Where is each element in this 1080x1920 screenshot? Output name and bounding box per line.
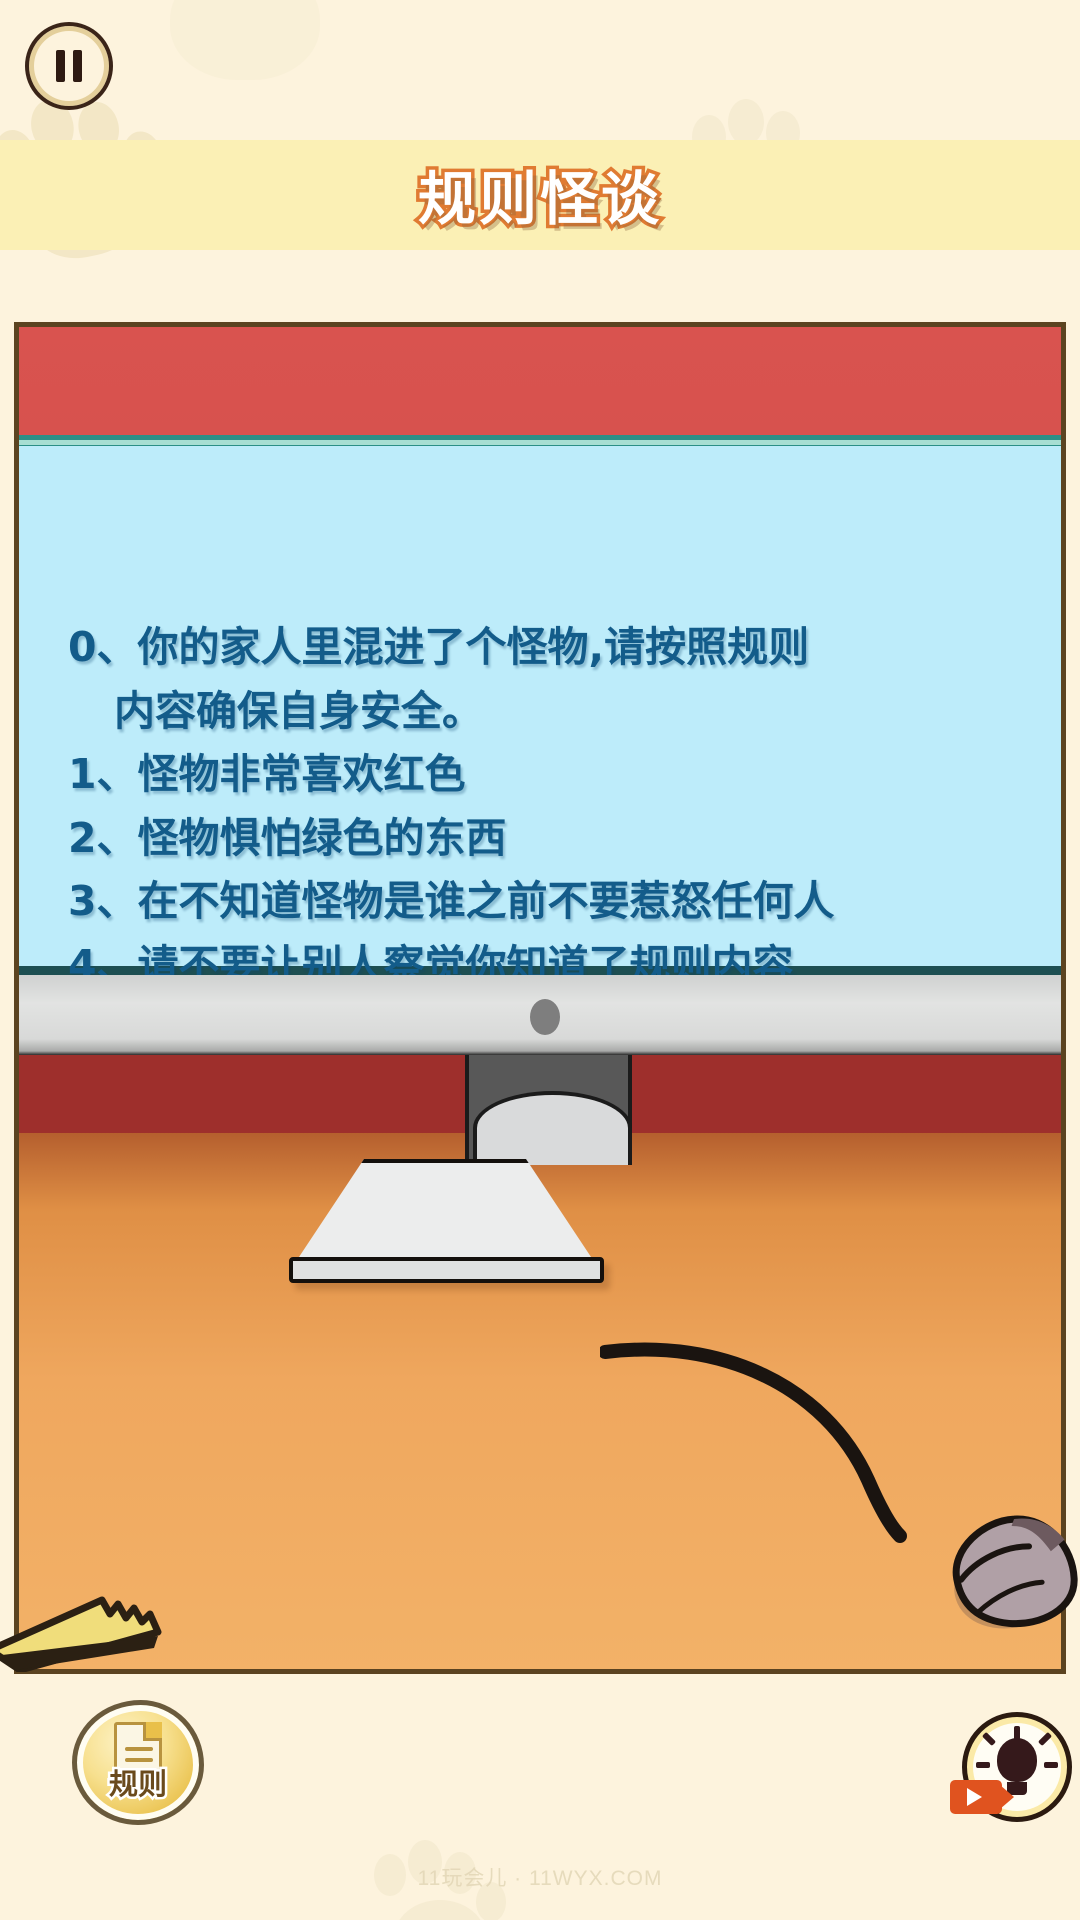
rules-list: 0、你的家人里混进了个怪物,请按照规则 内容确保自身安全。 1、怪物非常喜欢红色…: [68, 616, 1028, 997]
monitor-screen[interactable]: 0、你的家人里混进了个怪物,请按照规则 内容确保自身安全。 1、怪物非常喜欢红色…: [16, 435, 1066, 975]
pause-icon: [73, 50, 82, 82]
rules-button-label: 规则: [72, 1761, 204, 1803]
rule-number: 2、: [68, 814, 138, 862]
monitor-stand-base: [289, 1257, 604, 1283]
page-title: 规则怪谈: [0, 152, 1080, 236]
game-screen: 规则怪谈 0、你的家人里混进了个怪物,请按照规则 内容确保自身安全。 1、怪物非…: [0, 0, 1080, 1920]
saw-tool[interactable]: [0, 1592, 180, 1672]
rule-text: 怪物惧怕绿色的东西: [138, 814, 507, 862]
rule-item-continued: 内容确保自身安全。: [68, 680, 1028, 744]
rule-number: 1、: [68, 750, 138, 798]
watermark: 11玩会儿 · 11WYX.COM: [0, 1862, 1080, 1892]
rule-number: 3、: [68, 877, 138, 925]
rule-text: 在不知道怪物是谁之前不要惹怒任何人: [138, 877, 835, 925]
lightbulb-icon: [997, 1738, 1037, 1782]
lightbulb-ray-icon: [976, 1762, 990, 1768]
rule-item: 3、在不知道怪物是谁之前不要惹怒任何人: [68, 870, 1028, 934]
rule-text: 你的家人里混进了个怪物,请按照规则: [138, 623, 810, 671]
computer-mouse[interactable]: [935, 1505, 1080, 1635]
hint-button[interactable]: [962, 1712, 1072, 1822]
game-scene: 0、你的家人里混进了个怪物,请按照规则 内容确保自身安全。 1、怪物非常喜欢红色…: [14, 322, 1066, 1674]
rule-item: 1、怪物非常喜欢红色: [68, 743, 1028, 807]
lightbulb-ray-icon: [1044, 1762, 1058, 1768]
rule-item: 2、怪物惧怕绿色的东西: [68, 807, 1028, 871]
monitor-neck: [465, 1055, 632, 1163]
monitor-bezel: [16, 975, 1066, 1055]
rule-item: 0、你的家人里混进了个怪物,请按照规则: [68, 616, 1028, 680]
rule-text: 怪物非常喜欢红色: [138, 750, 466, 798]
video-play-icon[interactable]: [950, 1780, 1002, 1814]
lightbulb-ray-icon: [1014, 1726, 1020, 1740]
pause-icon: [56, 50, 65, 82]
pause-button[interactable]: [25, 22, 113, 110]
power-indicator-icon: [530, 999, 560, 1035]
rule-number: 0、: [68, 623, 138, 671]
rules-button[interactable]: 规则: [72, 1700, 204, 1825]
